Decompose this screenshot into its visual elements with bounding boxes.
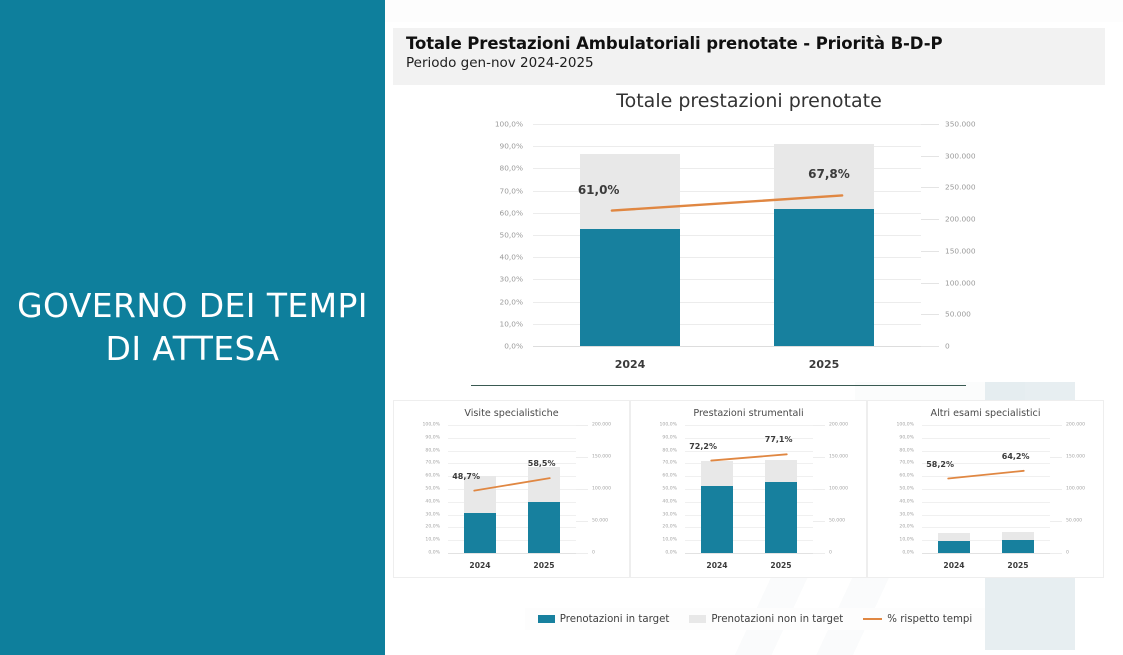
percentage-label: 58,5%	[528, 459, 556, 468]
y-tick-left: 70,0%	[425, 461, 440, 466]
y-tick-left: 100,0%	[495, 120, 523, 129]
y-tick-left: 20,0%	[899, 525, 914, 530]
slide-root: GOVERNO DEI TEMPI DI ATTESA Totale Prest…	[0, 0, 1123, 655]
tick-mark	[576, 425, 588, 426]
y-tick-right: 100.000	[1066, 487, 1085, 492]
y-tick-left: 40,0%	[500, 253, 523, 262]
y-tick-left: 80,0%	[425, 448, 440, 453]
tick-mark	[813, 457, 825, 458]
y-tick-left: 100,0%	[422, 423, 440, 428]
y-tick-right: 350.000	[945, 120, 976, 129]
y-tick-right: 100.000	[945, 278, 976, 287]
gridline	[448, 425, 576, 426]
gridline	[922, 451, 1050, 452]
header-title: Totale Prestazioni Ambulatoriali prenota…	[406, 34, 1105, 53]
y-tick-right: 150.000	[829, 455, 848, 460]
top-spacer	[385, 0, 1123, 22]
gridline	[533, 124, 921, 125]
y-tick-right: 200.000	[829, 423, 848, 428]
main-chart: Totale prestazioni prenotate 0,0%10,0%20…	[393, 86, 1105, 382]
small-y-axis-right: 050.000100.000150.000200.000	[1050, 425, 1104, 553]
main-chart-baseline	[533, 346, 921, 347]
y-tick-left: 90,0%	[425, 435, 440, 440]
bar-segment-non-target	[464, 476, 496, 513]
y-tick-right: 200.000	[945, 215, 976, 224]
y-tick-right: 150.000	[1066, 455, 1085, 460]
gridline	[685, 438, 813, 439]
tick-mark	[921, 156, 939, 157]
tick-mark	[1050, 521, 1062, 522]
tick-mark	[921, 251, 939, 252]
bar-segment-target	[701, 486, 733, 553]
gridline	[685, 451, 813, 452]
gridline	[922, 502, 1050, 503]
bar-segment-target	[938, 541, 970, 553]
legend-swatch-icon	[538, 615, 555, 623]
y-tick-left: 60,0%	[899, 474, 914, 479]
header-title-box: Totale Prestazioni Ambulatoriali prenota…	[393, 28, 1105, 85]
y-tick-left: 70,0%	[662, 461, 677, 466]
stacked-bar	[938, 533, 970, 553]
x-axis-label: 2024	[533, 358, 727, 371]
gridline	[922, 489, 1050, 490]
bar-segment-target	[1002, 540, 1034, 553]
page-title: GOVERNO DEI TEMPI DI ATTESA	[0, 285, 385, 369]
tick-mark	[813, 425, 825, 426]
y-tick-left: 50,0%	[662, 487, 677, 492]
y-tick-left: 60,0%	[500, 208, 523, 217]
main-chart-plot: 2024202561,0%67,8%	[533, 124, 921, 346]
header-subtitle: Periodo gen-nov 2024-2025	[406, 55, 1105, 71]
bar-segment-target	[528, 502, 560, 553]
y-tick-left: 70,0%	[500, 186, 523, 195]
gridline	[448, 451, 576, 452]
gridline	[685, 425, 813, 426]
small-chart-title: Altri esami specialistici	[868, 408, 1103, 419]
bar-segment-non-target	[701, 461, 733, 487]
content-area: Totale Prestazioni Ambulatoriali prenota…	[385, 0, 1123, 655]
bar-segment-non-target	[765, 460, 797, 482]
tick-mark	[1050, 489, 1062, 490]
y-tick-left: 50,0%	[899, 487, 914, 492]
tick-mark	[1050, 425, 1062, 426]
y-tick-right: 100.000	[829, 487, 848, 492]
y-tick-left: 40,0%	[899, 499, 914, 504]
y-tick-left: 0,0%	[665, 551, 677, 556]
tick-mark	[576, 521, 588, 522]
y-tick-left: 90,0%	[899, 435, 914, 440]
x-axis-label: 2025	[986, 561, 1050, 570]
tick-mark	[813, 521, 825, 522]
bar-segment-target	[765, 482, 797, 553]
stacked-bar	[1002, 532, 1034, 553]
y-tick-left: 50,0%	[425, 487, 440, 492]
y-tick-left: 10,0%	[899, 538, 914, 543]
x-axis-label: 2025	[727, 358, 921, 371]
main-chart-y-axis-left: 0,0%10,0%20,0%30,0%40,0%50,0%60,0%70,0%8…	[393, 124, 529, 346]
y-tick-left: 10,0%	[425, 538, 440, 543]
percentage-label: 67,8%	[808, 167, 850, 181]
gridline	[922, 515, 1050, 516]
small-chart-title: Visite specialistiche	[394, 408, 629, 419]
gridline	[448, 463, 576, 464]
y-tick-left: 80,0%	[662, 448, 677, 453]
percentage-label: 61,0%	[578, 183, 620, 197]
y-tick-right: 250.000	[945, 183, 976, 192]
small-chart-baseline	[685, 553, 813, 554]
tick-mark	[1050, 457, 1062, 458]
y-tick-left: 0,0%	[428, 551, 440, 556]
small-chart-card: Visite specialistiche0,0%10,0%20,0%30,0%…	[393, 400, 630, 578]
y-tick-left: 40,0%	[425, 499, 440, 504]
y-tick-right: 50.000	[592, 519, 608, 524]
small-y-axis-left: 0,0%10,0%20,0%30,0%40,0%50,0%60,0%70,0%8…	[631, 425, 681, 553]
y-tick-right: 50.000	[829, 519, 845, 524]
percentage-label: 72,2%	[689, 442, 717, 451]
x-axis-label: 2024	[448, 561, 512, 570]
tick-mark	[576, 553, 588, 554]
y-tick-right: 50.000	[1066, 519, 1082, 524]
x-axis-label: 2025	[512, 561, 576, 570]
tick-mark	[921, 314, 939, 315]
tick-mark	[813, 489, 825, 490]
y-tick-left: 90,0%	[500, 142, 523, 151]
tick-mark	[921, 219, 939, 220]
bar-segment-non-target	[938, 533, 970, 541]
legend-item[interactable]: Prenotazioni in target	[538, 614, 670, 625]
gridline	[922, 438, 1050, 439]
percentage-label: 48,7%	[452, 472, 480, 481]
y-tick-left: 90,0%	[662, 435, 677, 440]
chart-legend: Prenotazioni in targetPrenotazioni non i…	[525, 608, 985, 630]
y-tick-left: 50,0%	[500, 231, 523, 240]
bar-segment-non-target	[1002, 532, 1034, 540]
stacked-bar	[765, 460, 797, 553]
y-tick-left: 80,0%	[899, 448, 914, 453]
y-tick-left: 20,0%	[662, 525, 677, 530]
y-tick-left: 0,0%	[902, 551, 914, 556]
small-y-axis-left: 0,0%10,0%20,0%30,0%40,0%50,0%60,0%70,0%8…	[394, 425, 444, 553]
small-chart-card: Altri esami specialistici0,0%10,0%20,0%3…	[867, 400, 1104, 578]
y-tick-left: 80,0%	[500, 164, 523, 173]
main-chart-y-axis-right: 050.000100.000150.000200.000250.000300.0…	[921, 124, 1051, 346]
tick-mark	[921, 187, 939, 188]
gridline	[922, 527, 1050, 528]
tick-mark	[1050, 553, 1062, 554]
small-chart-baseline	[448, 553, 576, 554]
percentage-label: 77,1%	[765, 435, 793, 444]
y-tick-right: 150.000	[592, 455, 611, 460]
tick-mark	[813, 553, 825, 554]
y-tick-right: 0	[592, 551, 595, 556]
y-tick-left: 0,0%	[504, 342, 523, 351]
gridline	[922, 425, 1050, 426]
y-tick-right: 0	[829, 551, 832, 556]
y-tick-left: 70,0%	[899, 461, 914, 466]
left-title-panel: GOVERNO DEI TEMPI DI ATTESA	[0, 0, 385, 655]
small-chart-plot: 2024202572,2%77,1%	[685, 425, 813, 553]
y-tick-left: 100,0%	[659, 423, 677, 428]
y-tick-left: 60,0%	[425, 474, 440, 479]
y-tick-right: 150.000	[945, 246, 976, 255]
small-chart-baseline	[922, 553, 1050, 554]
gridline	[922, 476, 1050, 477]
x-axis-label: 2024	[922, 561, 986, 570]
bar-segment-target	[464, 513, 496, 553]
legend-line-icon	[863, 618, 882, 620]
x-axis-label: 2024	[685, 561, 749, 570]
y-tick-left: 60,0%	[662, 474, 677, 479]
legend-item[interactable]: % rispetto tempi	[863, 614, 972, 625]
small-chart-title: Prestazioni strumentali	[631, 408, 866, 419]
y-tick-right: 200.000	[592, 423, 611, 428]
percentage-label: 64,2%	[1002, 452, 1030, 461]
legend-swatch-icon	[689, 615, 706, 623]
small-chart-plot: 2024202548,7%58,5%	[448, 425, 576, 553]
y-tick-right: 200.000	[1066, 423, 1085, 428]
y-tick-right: 0	[945, 342, 950, 351]
y-tick-left: 30,0%	[662, 512, 677, 517]
small-y-axis-right: 050.000100.000150.000200.000	[576, 425, 630, 553]
y-tick-left: 100,0%	[896, 423, 914, 428]
x-axis-label: 2025	[749, 561, 813, 570]
small-y-axis-left: 0,0%10,0%20,0%30,0%40,0%50,0%60,0%70,0%8…	[868, 425, 918, 553]
small-charts-row: Visite specialistiche0,0%10,0%20,0%30,0%…	[393, 400, 1105, 578]
main-chart-title: Totale prestazioni prenotate	[393, 90, 1105, 112]
small-y-axis-right: 050.000100.000150.000200.000	[813, 425, 867, 553]
legend-item[interactable]: Prenotazioni non in target	[689, 614, 843, 625]
gridline	[448, 438, 576, 439]
y-tick-left: 20,0%	[500, 297, 523, 306]
tick-mark	[576, 457, 588, 458]
legend-label: % rispetto tempi	[887, 614, 972, 625]
y-tick-right: 0	[1066, 551, 1069, 556]
stacked-bar	[701, 461, 733, 553]
legend-label: Prenotazioni non in target	[711, 614, 843, 625]
tick-mark	[921, 346, 939, 347]
tick-mark	[921, 124, 939, 125]
legend-label: Prenotazioni in target	[560, 614, 670, 625]
small-chart-card: Prestazioni strumentali0,0%10,0%20,0%30,…	[630, 400, 867, 578]
section-divider	[471, 385, 966, 386]
percentage-label: 58,2%	[926, 460, 954, 469]
y-tick-left: 20,0%	[425, 525, 440, 530]
y-tick-left: 10,0%	[662, 538, 677, 543]
y-tick-left: 40,0%	[662, 499, 677, 504]
stacked-bar	[464, 476, 496, 553]
bar-segment-target	[774, 209, 875, 346]
y-tick-left: 30,0%	[425, 512, 440, 517]
y-tick-left: 30,0%	[899, 512, 914, 517]
y-tick-right: 50.000	[945, 310, 971, 319]
tick-mark	[921, 283, 939, 284]
bar-segment-target	[580, 229, 681, 346]
bar-segment-non-target	[528, 467, 560, 502]
stacked-bar	[528, 467, 560, 553]
y-tick-right: 100.000	[592, 487, 611, 492]
small-chart-plot: 2024202558,2%64,2%	[922, 425, 1050, 553]
y-tick-left: 30,0%	[500, 275, 523, 284]
y-tick-right: 300.000	[945, 151, 976, 160]
y-tick-left: 10,0%	[500, 319, 523, 328]
tick-mark	[576, 489, 588, 490]
